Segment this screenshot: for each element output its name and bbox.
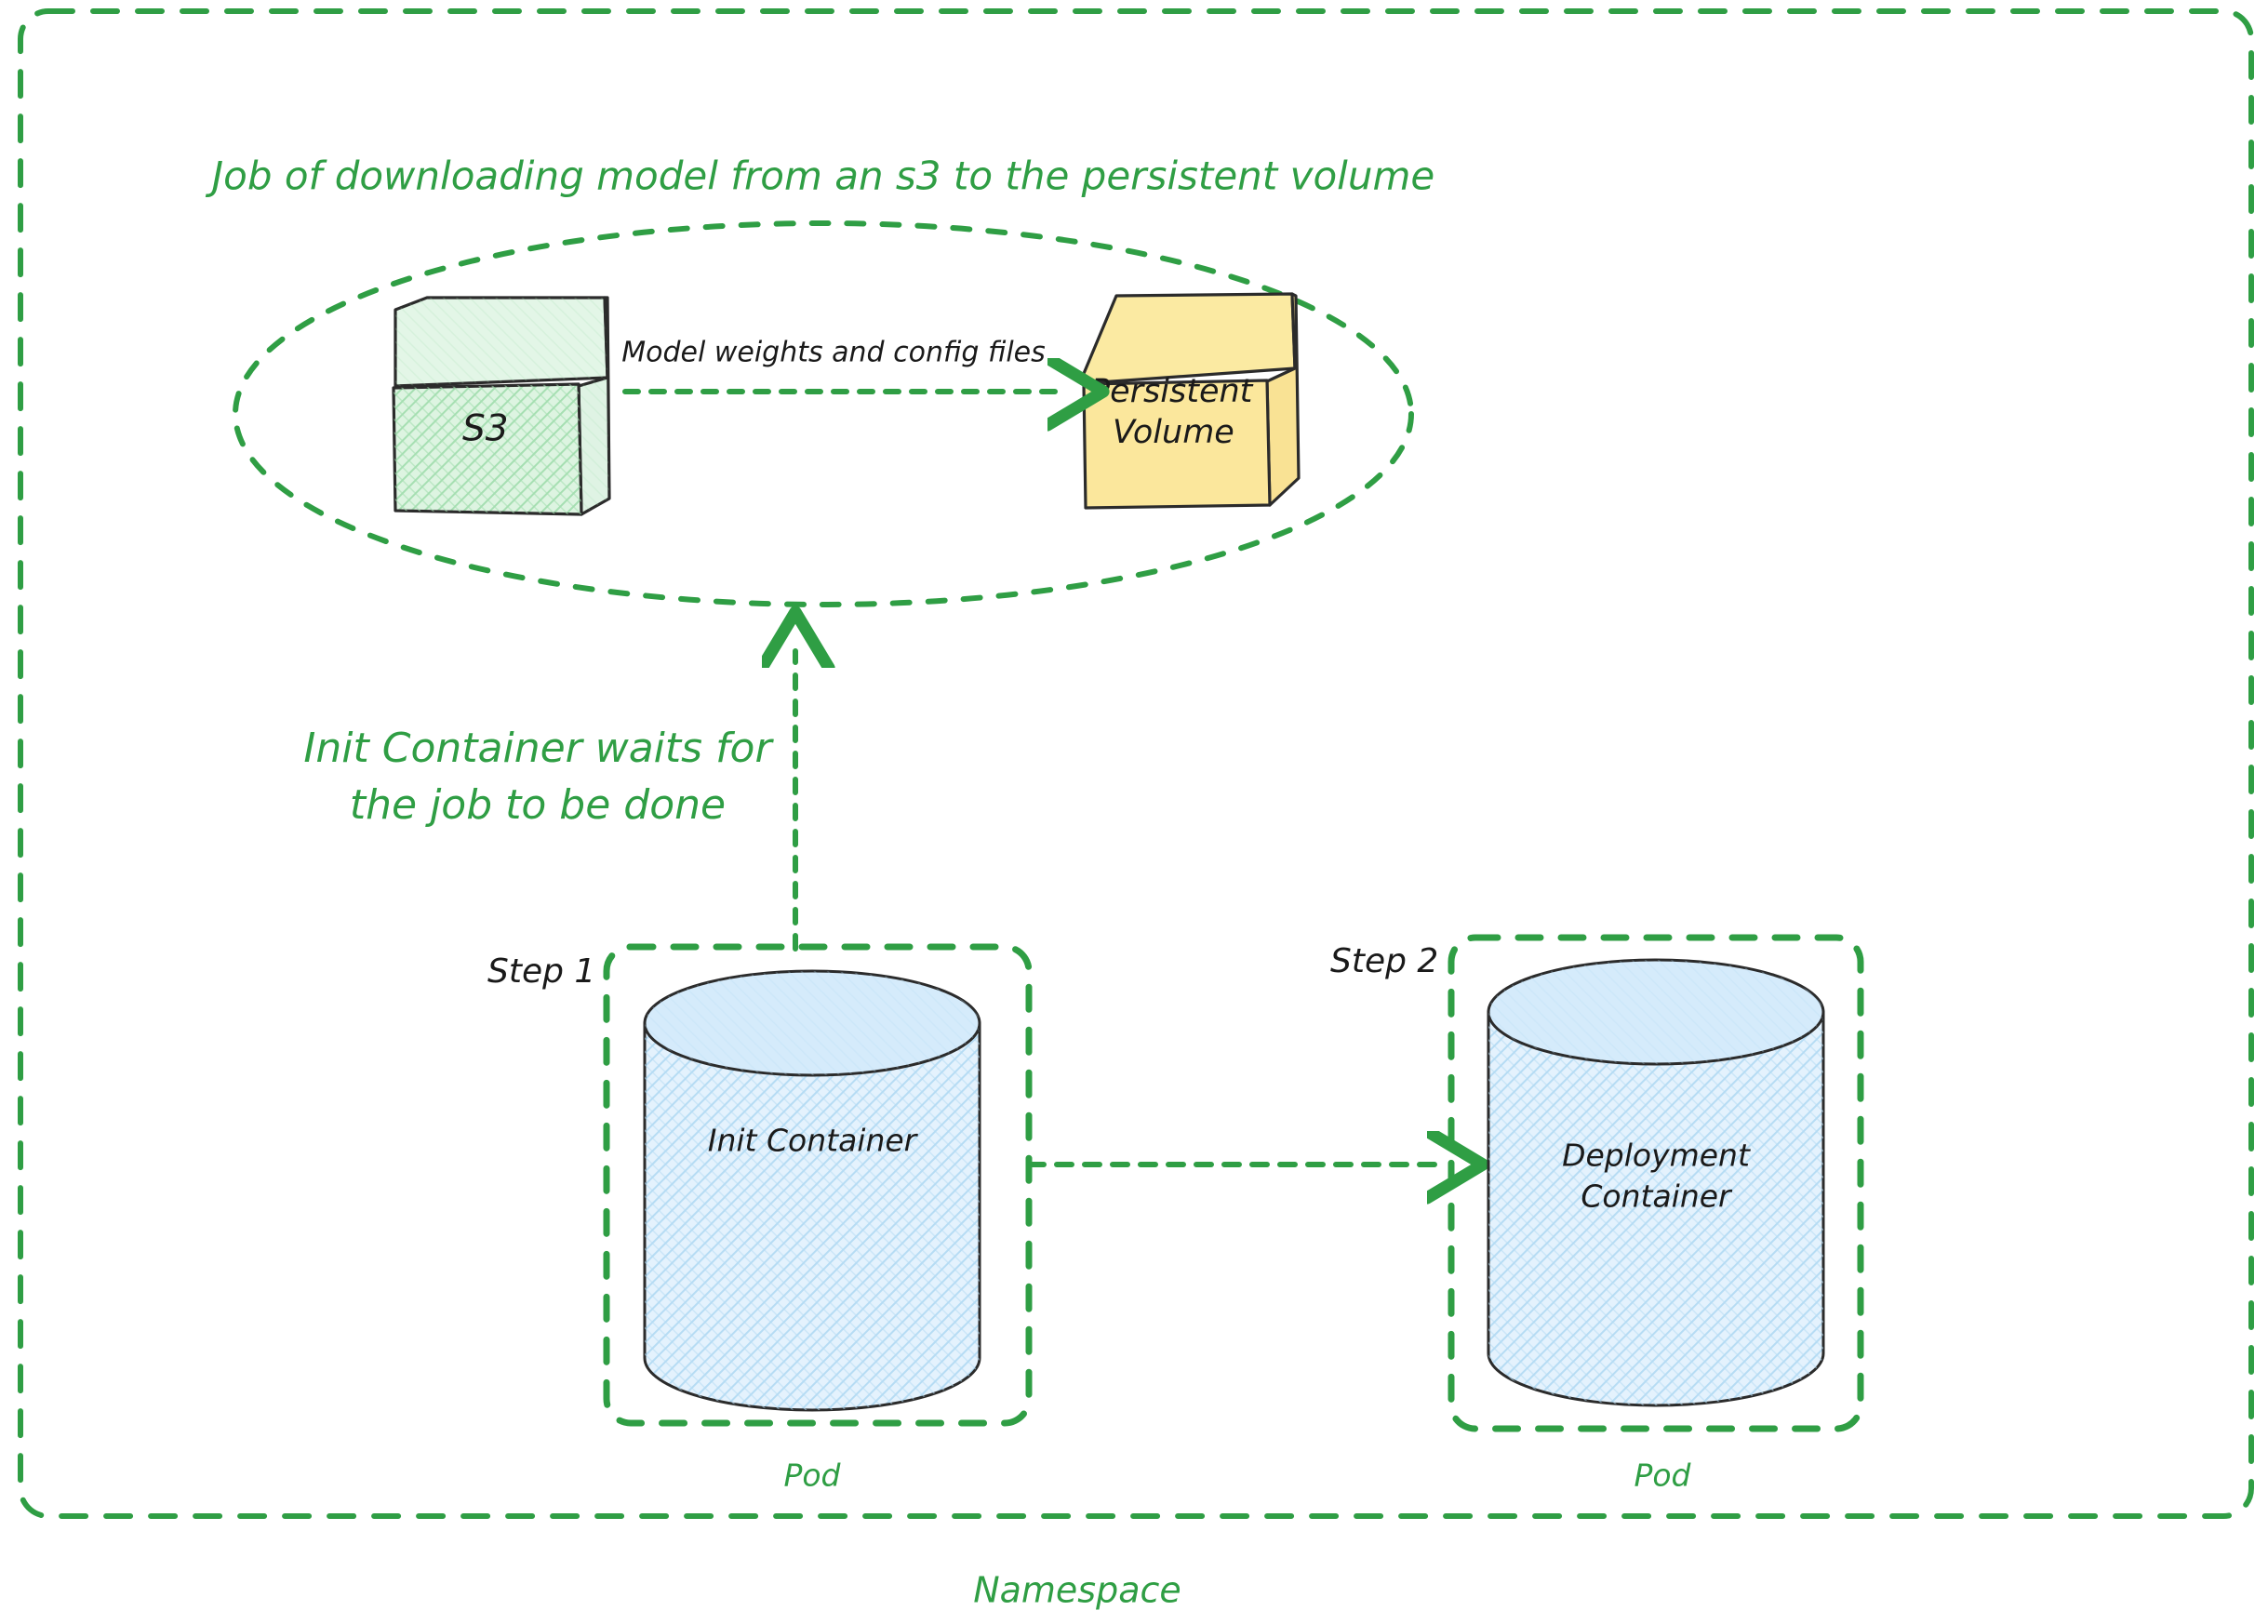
init-wait-label-line1: Init Container waits for xyxy=(303,725,774,772)
namespace-label: Namespace xyxy=(973,1570,1181,1611)
step-2-label: Step 2 xyxy=(1330,942,1438,980)
s3-cube: S3 xyxy=(394,298,609,514)
init-wait-label-line2: the job to be done xyxy=(350,781,726,829)
deployment-container-cylinder: Deployment Container xyxy=(1488,960,1823,1405)
model-transfer-edge-label: Model weights and config files xyxy=(621,337,1046,369)
s3-cube-label: S3 xyxy=(462,408,509,450)
step-1-label: Step 1 xyxy=(487,952,595,991)
job-group-caption: Job of downloading model from an s3 to t… xyxy=(206,153,1434,199)
persistent-volume-cube: Persistent Volume xyxy=(1083,294,1299,508)
init-container-label: Init Container xyxy=(708,1123,919,1159)
deployment-container-label-line1: Deployment xyxy=(1562,1138,1751,1174)
persistent-volume-label-line2: Volume xyxy=(1113,414,1234,451)
diagram-canvas: S3 Persistent Volume xyxy=(0,0,2268,1624)
pod-2-label: Pod xyxy=(1634,1458,1691,1494)
init-container-cylinder: Init Container xyxy=(645,971,980,1410)
persistent-volume-label-line1: Persistent xyxy=(1090,373,1254,410)
diagram-svg: S3 Persistent Volume xyxy=(0,0,2268,1624)
deployment-container-label-line2: Container xyxy=(1581,1178,1733,1215)
pod-1-label: Pod xyxy=(783,1458,841,1494)
